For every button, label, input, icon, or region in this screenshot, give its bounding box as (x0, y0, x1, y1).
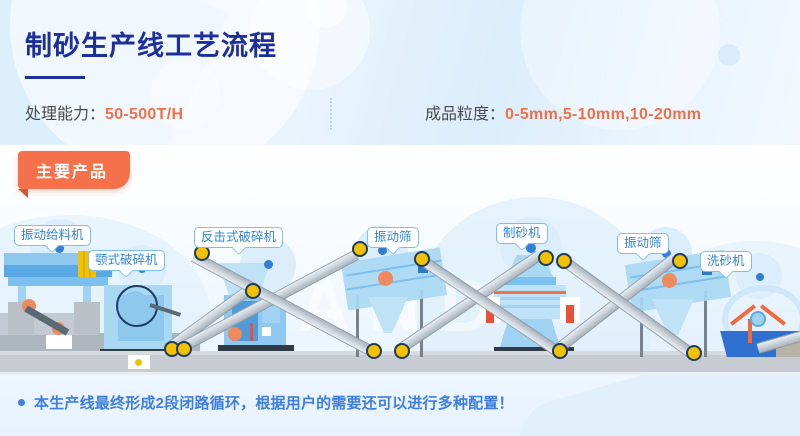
label-vibrating-feeder: 振动给料机 (14, 225, 91, 246)
pulley-screen2-low (552, 343, 568, 359)
title-underline (25, 76, 85, 79)
jaw-discharge-dot (135, 359, 142, 366)
footer-note-bar: 本生产线最终形成2段闭路循环，根据用户的需要还可以进行多种配置！ (0, 375, 800, 436)
feeder-chute-line-1 (83, 251, 85, 277)
spec-capacity-value: 50-500T/H (105, 106, 183, 123)
page-title: 制砂生产线工艺流程 (25, 24, 277, 63)
pulley-sandmaker-low (394, 343, 410, 359)
label-sand-making-machine: 制砂机 (496, 223, 548, 244)
main-products-label: 主要产品 (36, 158, 108, 182)
washer-hub (756, 273, 764, 281)
ribbon-tail (18, 189, 28, 198)
sandmaker-band (494, 291, 566, 294)
screen2-exciter (662, 273, 677, 288)
spec-output-size: 成品粒度：0-5mm,5-10mm,10-20mm (425, 100, 701, 124)
footer-note-row: 本生产线最终形成2段闭路循环，根据用户的需要还可以进行多种配置！ (18, 392, 514, 413)
header-banner: 制砂生产线工艺流程 处理能力：50-500T/H 成品粒度：0-5mm,5-10… (0, 0, 800, 145)
footer-note-text: 本生产线最终形成2段闭路循环，根据用户的需要还可以进行多种配置！ (34, 392, 514, 413)
screen1-exciter (378, 271, 393, 286)
pulley-impact-screen-high (352, 241, 368, 257)
impact-hub (264, 260, 273, 269)
process-illustration: 主要产品 SAND (0, 145, 800, 375)
spec-output-size-label: 成品粒度： (425, 106, 505, 123)
spec-capacity-label: 处理能力： (25, 106, 105, 123)
spec-capacity: 处理能力：50-500T/H (25, 100, 183, 124)
sandmaker-motor-right (566, 305, 574, 323)
ground-shadow (0, 372, 800, 375)
label-impact-crusher: 反击式破碎机 (194, 227, 283, 248)
pulley-impact-screen-low (176, 341, 192, 357)
header-blob-5 (718, 44, 740, 66)
pulley-sandmaker-high (538, 250, 554, 266)
label-vibrating-screen-1: 振动筛 (367, 227, 419, 248)
spec-output-size-value: 0-5mm,5-10mm,10-20mm (505, 106, 701, 123)
feeder-motor-base (46, 335, 72, 349)
feeder-spring-right (83, 286, 91, 302)
screen1-leg-right (420, 289, 423, 357)
process-flow-infographic: 制砂生产线工艺流程 处理能力：50-500T/H 成品粒度：0-5mm,5-10… (0, 0, 800, 436)
pulley-screen2-return-low (686, 345, 702, 361)
pulley-jaw-belt-high (245, 283, 261, 299)
sandmaker-rib-1 (500, 297, 560, 300)
sandmaker-rib-2 (500, 305, 560, 308)
dot-bullet-icon (18, 399, 25, 406)
label-vibrating-screen-2: 振动筛 (617, 233, 669, 254)
label-jaw-crusher: 颚式破碎机 (88, 250, 165, 271)
pulley-screen2-high (672, 253, 688, 269)
impact-blade (250, 323, 253, 341)
feeder-pier-right (74, 302, 100, 334)
label-sand-washer: 洗砂机 (700, 251, 752, 272)
feeder-frame (8, 277, 108, 286)
impact-gauge (262, 327, 271, 336)
pulley-screen2-return-high (556, 253, 572, 269)
impact-rotor (228, 327, 242, 341)
pulley-return-low (366, 343, 382, 359)
washer-wheel-center (750, 311, 766, 327)
footer-blob (511, 375, 800, 436)
main-products-badge: 主要产品 (18, 151, 130, 189)
vertical-dotted-divider-icon (330, 98, 332, 130)
pulley-sandfeed-high (414, 251, 430, 267)
